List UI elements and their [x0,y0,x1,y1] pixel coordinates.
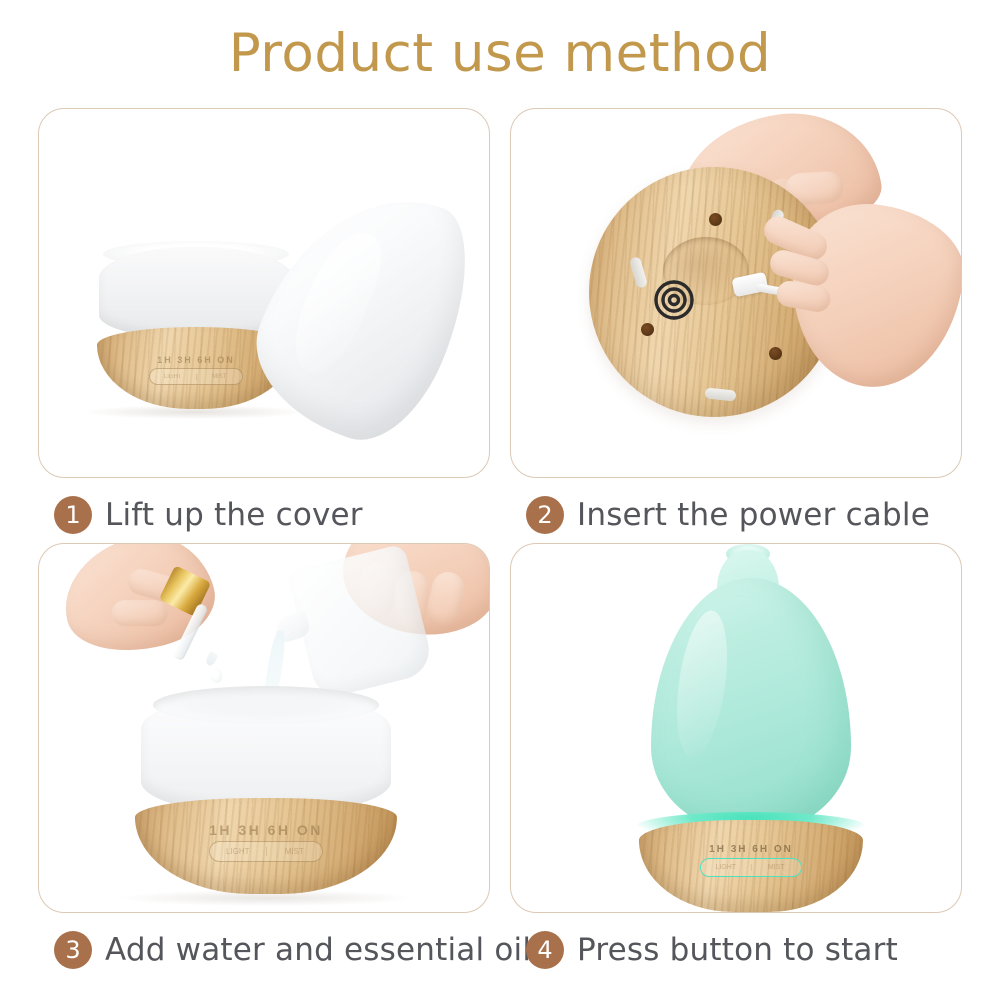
base-foot-left [165,891,191,894]
step-caption-text-4: Press button to start [577,932,898,968]
rubber-foot-pad [705,387,737,401]
step-image-card-4: 1H 3H 6H ON LIGHT MIST [510,543,962,913]
scene-press-button-to-start: 1H 3H 6H ON LIGHT MIST [511,544,961,912]
step-image-card-2 [510,108,962,478]
step-caption-4: 4 Press button to start [526,931,898,969]
scene-lift-up-the-cover: 1H 3H 6H ON LIGHT MIST [39,109,489,477]
scene-add-water-and-essential-oil: 1H 3H 6H ON LIGHT MIST [39,544,489,912]
step-caption-text-2: Insert the power cable [577,497,930,533]
light-button-label[interactable]: LIGHT [701,864,751,871]
scene-insert-the-power-cable [511,109,961,477]
timer-labels: 1H 3H 6H ON [141,355,251,365]
step-caption-text-3: Add water and essential oil [105,932,531,968]
mist-button-label[interactable]: MIST [266,847,323,856]
step-block-4: 1H 3H 6H ON LIGHT MIST 4 Press button to… [510,543,962,978]
screw-hole [709,213,722,226]
timer-labels: 1H 3H 6H ON [693,844,809,855]
step-image-card-1: 1H 3H 6H ON LIGHT MIST [38,108,490,478]
finger [425,569,468,628]
steps-grid: 1H 3H 6H ON LIGHT MIST 1 Lift up the cov… [38,108,962,978]
light-button-label[interactable]: LIGHT [210,847,266,856]
diffuser-base-open: 1H 3H 6H ON LIGHT MIST [135,694,397,894]
base-foot-left [673,909,697,912]
control-panel-3: 1H 3H 6H ON LIGHT MIST [201,822,331,862]
base-foot-left [123,406,145,409]
mist-button-label[interactable]: MIST [196,374,243,380]
step-caption-3: 3 Add water and essential oil [54,931,531,969]
step-number-badge-4: 4 [526,931,564,969]
step-image-card-3: 1H 3H 6H ON LIGHT MIST [38,543,490,913]
page-title: Product use method [0,23,1000,84]
step-block-3: 1H 3H 6H ON LIGHT MIST 3 Add water and e… [38,543,490,978]
step-number-badge-2: 2 [526,496,564,534]
oil-dropper-tip [204,651,218,668]
control-panel-1: 1H 3H 6H ON LIGHT MIST [141,355,251,385]
step-number-badge-1: 1 [54,496,92,534]
step-caption-2: 2 Insert the power cable [526,496,930,534]
step-block-2: 2 Insert the power cable [510,108,962,543]
base-foot-right [337,891,363,894]
control-buttons[interactable]: LIGHT MIST [149,368,243,385]
mist-button-label[interactable]: MIST [751,864,802,871]
light-button-label[interactable]: LIGHT [150,374,196,380]
essential-oil-drop [211,668,222,683]
timer-labels: 1H 3H 6H ON [201,822,331,838]
finger [112,600,168,626]
step-number-badge-3: 3 [54,931,92,969]
control-buttons[interactable]: LIGHT MIST [700,858,802,877]
base-foot-right [807,909,831,912]
base-foot-right [247,406,269,409]
step-caption-text-1: Lift up the cover [105,497,363,533]
water-tank-opening [153,686,379,724]
fan-vent-icon [646,272,702,328]
step-caption-1: 1 Lift up the cover [54,496,363,534]
screw-hole [769,347,782,360]
control-panel-4: 1H 3H 6H ON LIGHT MIST [693,844,809,877]
step-block-1: 1H 3H 6H ON LIGHT MIST 1 Lift up the cov… [38,108,490,543]
product-instruction-infographic: Product use method 1H 3H 6H ON [0,0,1000,1000]
control-buttons[interactable]: LIGHT MIST [209,841,323,862]
